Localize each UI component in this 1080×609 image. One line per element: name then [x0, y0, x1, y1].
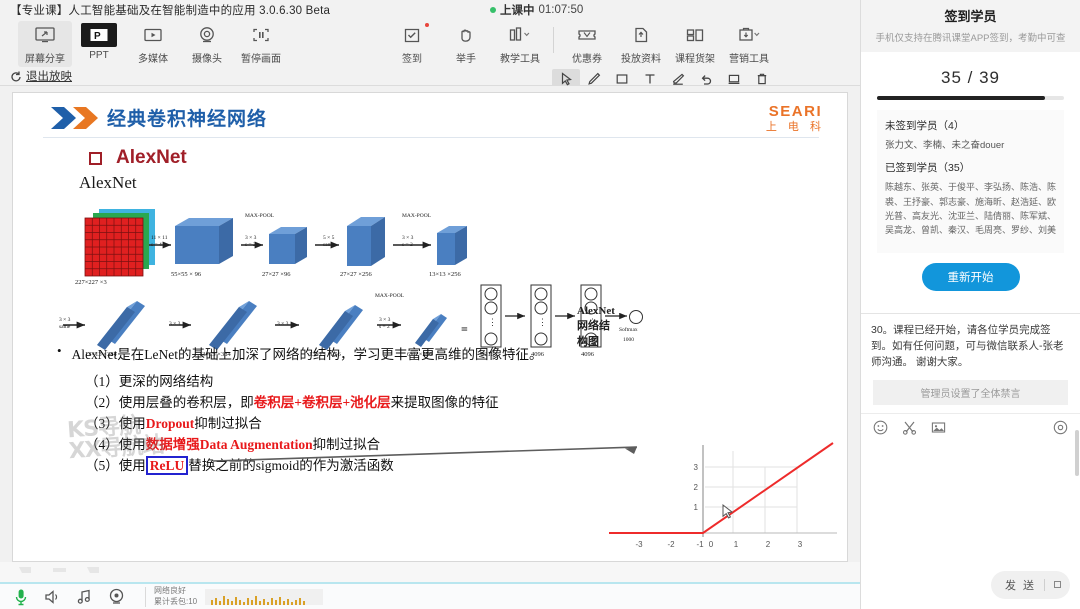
svg-text:-1: -1: [696, 540, 704, 549]
svg-text:3: 3: [694, 463, 699, 472]
chat-panel: 30。课程已经开始，请各位学员完成签到。如有任何问题，可与微信联系人-张老师沟通…: [861, 314, 1080, 609]
image-icon[interactable]: [931, 420, 946, 440]
send-material-icon: [632, 23, 650, 47]
point-3-t1: Dropout: [146, 416, 195, 431]
not-signed-heading: 未签到学员（4）: [885, 118, 1056, 133]
point-5-highlight: ReLU: [146, 456, 189, 475]
tool-camera-label: 摄像头: [192, 50, 222, 65]
tool-ppt-label: PPT: [89, 50, 108, 61]
send-button-label: 发 送: [1005, 577, 1036, 593]
send-options-icon[interactable]: [1053, 576, 1062, 594]
diagram-label-4: 13×13 ×256: [429, 271, 461, 278]
music-icon[interactable]: [77, 589, 92, 605]
signin-progress-fill: [877, 96, 1045, 100]
point-3-num: （3）: [85, 416, 119, 431]
ghost-icon-3: [86, 563, 102, 581]
point-4-num: （4）: [85, 437, 119, 452]
ghost-icon-1: [18, 563, 34, 581]
live-timer: 01:07:50: [539, 4, 584, 16]
diagram-label-3: 27×27 ×256: [340, 271, 372, 278]
system-message: 管理员设置了全体禁言: [873, 380, 1068, 405]
point-4-t0: 使用: [119, 437, 146, 452]
ppt-icon: P: [81, 23, 117, 47]
diagram-op-9: MAX-POOL: [375, 293, 404, 300]
toolbar-divider: [553, 27, 554, 53]
send-button[interactable]: 发 送: [991, 571, 1070, 599]
signin-panel-subtitle: 手机仅支持在腾讯课堂APP签到，考勤中可查: [871, 30, 1070, 44]
tool-checkin[interactable]: 签到: [385, 21, 439, 67]
speaker-icon[interactable]: [44, 589, 61, 605]
signin-count: 35 / 39: [871, 60, 1070, 94]
square-bullet-icon: [89, 152, 102, 165]
diagram-label-1: 55×55 × 96: [171, 271, 201, 278]
tool-screen-share-label: 屏幕分享: [25, 50, 65, 65]
title-bar: 【专业课】人工智能基础及在智能制造中的应用 3.0.6.30 Beta 上课中 …: [0, 0, 860, 19]
point-5-t2: 替换之前的sigmoid的作为激活函数: [188, 458, 394, 473]
chat-message: 30。课程已经开始，请各位学员完成签到。如有任何问题，可与微信联系人-张老师沟通…: [871, 322, 1070, 371]
not-signed-names: 张力文、李楠、未之奋douer: [885, 138, 1056, 153]
checkin-icon: [403, 23, 421, 47]
chat-messages: 30。课程已经开始，请各位学员完成签到。如有任何问题，可与微信联系人-张老师沟通…: [861, 314, 1080, 405]
svg-text:0: 0: [709, 540, 714, 549]
svg-text:2: 2: [766, 540, 771, 549]
diagram-op-5: 3 × 3 s = 2: [402, 235, 413, 249]
point-4-t2: 抑制过拟合: [313, 437, 381, 452]
svg-text:2: 2: [694, 483, 699, 492]
tool-coupon-label: 优惠券: [572, 50, 602, 65]
emoji-icon[interactable]: [873, 420, 888, 440]
main-column: 【专业课】人工智能基础及在智能制造中的应用 3.0.6.30 Beta 上课中 …: [0, 0, 860, 609]
exit-presentation-button[interactable]: 退出放映: [10, 68, 72, 84]
slide-canvas[interactable]: 经典卷积神经网络 SEARI 上 电 科 AlexNet AlexNet: [12, 92, 848, 562]
camera-icon: [197, 23, 217, 47]
point-3: （3）使用Dropout抑制过拟合: [85, 414, 847, 435]
diagram-op-2: 3 × 3 s = 2: [245, 235, 256, 249]
restart-button-wrap: 重新开始: [871, 253, 1070, 303]
network-info: 网络良好 累计丢包:10: [145, 586, 323, 608]
tool-raise-hand[interactable]: 举手: [439, 21, 493, 67]
tool-course-shelf-label: 课程货架: [675, 50, 715, 65]
camera-dot-icon[interactable]: [108, 588, 125, 605]
point-1-t0: 更深的网络结构: [119, 374, 214, 389]
chat-toolbar: [861, 413, 1080, 446]
point-1: （1）更深的网络结构: [85, 372, 847, 393]
slide-subheading: AlexNet: [89, 147, 187, 169]
packet-loss-label: 累计丢包:10: [154, 597, 197, 608]
send-row: 发 送: [861, 565, 1080, 609]
tool-multimedia[interactable]: 多媒体: [126, 21, 180, 67]
exit-icon: [10, 70, 22, 82]
slide-title: 经典卷积神经网络: [107, 104, 267, 131]
tool-send-material-label: 投放资料: [621, 50, 661, 65]
point-2-t1: 卷积层+卷积层+池化层: [254, 395, 391, 410]
diagram-op-0: 11 × 11 s = 4: [151, 235, 167, 249]
lead-bullet: • AlexNet是在LeNet的基础上加深了网络的结构，学习更丰富更高维的图像…: [57, 343, 847, 363]
tool-course-shelf[interactable]: 课程货架: [668, 21, 722, 67]
signed-heading: 已签到学员（35）: [885, 160, 1056, 175]
media-icon: [143, 23, 163, 47]
svg-text:1: 1: [734, 540, 739, 549]
header-divider: [43, 137, 819, 138]
slide-header: 经典卷积神经网络 SEARI 上 电 科: [13, 93, 847, 141]
microphone-icon[interactable]: [14, 588, 28, 606]
coupon-icon: [577, 23, 597, 47]
main-toolbar: 屏幕分享 P PPT 多媒体 摄像头: [0, 19, 860, 67]
diagram-op-1: MAX-POOL: [245, 213, 274, 220]
diagram-label-0: 227×227 ×3: [75, 279, 107, 286]
marketing-tools-icon: [737, 23, 761, 47]
app-window: 【专业课】人工智能基础及在智能制造中的应用 3.0.6.30 Beta 上课中 …: [0, 0, 1080, 609]
diagram-op-3: 5 × 5 same: [323, 235, 334, 249]
tool-multimedia-label: 多媒体: [138, 50, 168, 65]
live-status: 上课中 01:07:50: [490, 2, 583, 18]
diagram-op-8: 3 × 3: [277, 321, 288, 328]
tool-pause-frame[interactable]: 暂停画面: [234, 21, 288, 67]
right-panel: 签到学员 手机仅支持在腾讯课堂APP签到，考勤中可查 35 / 39 未签到学员…: [860, 0, 1080, 609]
alexnet-architecture-diagram: AlexNet: [57, 175, 527, 335]
point-4-t1: 数据增强Data Augmentation: [146, 437, 313, 452]
point-2-num: （2）: [85, 395, 119, 410]
slide-stage: 经典卷积神经网络 SEARI 上 电 科 AlexNet AlexNet: [0, 86, 860, 562]
signin-progress-bar: [877, 96, 1064, 100]
tool-camera[interactable]: 摄像头: [180, 21, 234, 67]
bullet-dot-icon: •: [57, 343, 62, 363]
svg-text:⋮: ⋮: [538, 317, 547, 327]
brand-logo-cn: 上 电 科: [766, 118, 825, 134]
svg-text:-3: -3: [635, 540, 643, 549]
tool-teaching-tools[interactable]: 教学工具: [493, 21, 547, 67]
point-2: （2）使用层叠的卷积层，即卷积层+卷积层+池化层来提取图像的特征: [85, 393, 847, 414]
relu-chart-svg: 123 -3 -2 -1 0 1 2 3: [605, 437, 841, 561]
tool-marketing-tools-label: 营销工具: [729, 50, 769, 65]
live-dot-icon: [490, 7, 496, 13]
point-2-t0: 使用层叠的卷积层，即: [119, 395, 254, 410]
student-name-lists: 未签到学员（4） 张力文、李楠、未之奋douer 已签到学员（35） 陈越东、张…: [877, 110, 1064, 253]
audio-level-meter: [205, 589, 323, 605]
teaching-tools-icon: [508, 23, 532, 47]
send-button-divider: [1044, 579, 1045, 591]
chat-scrollbar[interactable]: [1075, 430, 1079, 476]
svg-text:=: =: [461, 322, 468, 336]
svg-text:P: P: [94, 31, 101, 42]
ghost-toolbar-row: [0, 562, 860, 582]
settings-icon[interactable]: [1053, 420, 1068, 440]
tool-coupon[interactable]: 优惠券: [560, 21, 614, 67]
point-5-t0: 使用: [119, 458, 146, 473]
app-title: 【专业课】人工智能基础及在智能制造中的应用 3.0.6.30 Beta: [10, 2, 330, 18]
tool-checkin-label: 签到: [402, 50, 422, 65]
slide-subheading-text: AlexNet: [116, 147, 187, 169]
diagram-label-2: 27×27 ×96: [262, 271, 290, 278]
course-shelf-icon: [685, 23, 705, 47]
point-3-t0: 使用: [119, 416, 146, 431]
relu-chart: 123 -3 -2 -1 0 1 2 3: [605, 437, 841, 561]
chevron-decoration-icon: [49, 105, 101, 131]
brand-logo: SEARI 上 电 科: [766, 103, 825, 134]
point-5-num: （5）: [85, 458, 119, 473]
point-3-t2: 抑制过拟合: [194, 416, 262, 431]
signin-panel-header: 签到学员 手机仅支持在腾讯课堂APP签到，考勤中可查: [861, 0, 1080, 52]
raise-hand-icon: [457, 23, 475, 47]
screen-share-icon: [35, 23, 55, 47]
pause-frame-icon: [251, 23, 271, 47]
svg-text:-2: -2: [667, 540, 675, 549]
bottom-status-bar: 网络良好 累计丢包:10: [0, 582, 860, 609]
tool-send-material[interactable]: 投放资料: [614, 21, 668, 67]
exit-presentation-label: 退出放映: [26, 68, 72, 84]
diagram-op-10: 3 × 3 s = 2: [379, 317, 390, 331]
signin-card: 35 / 39 未签到学员（4） 张力文、李楠、未之奋douer 已签到学员（3…: [861, 52, 1080, 313]
scissors-icon[interactable]: [902, 420, 917, 440]
tool-pause-frame-label: 暂停画面: [241, 50, 281, 65]
lead-bullet-text: AlexNet是在LeNet的基础上加深了网络的结构，学习更丰富更高维的图像特征…: [72, 343, 543, 363]
diagram-op-7: 3 × 3: [169, 321, 180, 328]
softmax-label: Softmax: [619, 327, 638, 334]
svg-text:3: 3: [798, 540, 803, 549]
diagram-title: AlexNet: [79, 173, 137, 193]
network-divider: [145, 587, 146, 607]
tool-marketing-tools[interactable]: 营销工具: [722, 21, 776, 67]
tool-screen-share[interactable]: 屏幕分享: [18, 21, 72, 67]
svg-text:1: 1: [694, 503, 699, 512]
point-1-num: （1）: [85, 374, 119, 389]
diagram-op-6: 3 × 3 same: [59, 317, 70, 331]
restart-signin-button[interactable]: 重新开始: [922, 263, 1020, 291]
tool-ppt[interactable]: P PPT: [72, 21, 126, 67]
point-2-t2: 来提取图像的特征: [391, 395, 499, 410]
signin-panel-title: 签到学员: [871, 6, 1070, 25]
chat-input[interactable]: [861, 446, 1080, 565]
toolbar-right-group: 签到 举手 教学工具: [385, 21, 776, 67]
diagram-op-4: MAX-POOL: [402, 213, 431, 220]
exit-row: 退出放映: [0, 67, 860, 86]
svg-text:⋮: ⋮: [488, 317, 497, 327]
ghost-icon-2: [52, 563, 68, 581]
network-quality-label: 网络良好: [154, 586, 197, 597]
checkin-badge-icon: [425, 23, 429, 27]
live-status-label: 上课中: [500, 2, 535, 18]
signed-names: 陈越东、张英、于俊平、李弘扬、陈浩、陈裘、王抒豪、郭志豪、施海昕、赵浩延、欧光普…: [885, 180, 1056, 238]
tool-teaching-tools-label: 教学工具: [500, 50, 540, 65]
tool-raise-hand-label: 举手: [456, 50, 476, 65]
